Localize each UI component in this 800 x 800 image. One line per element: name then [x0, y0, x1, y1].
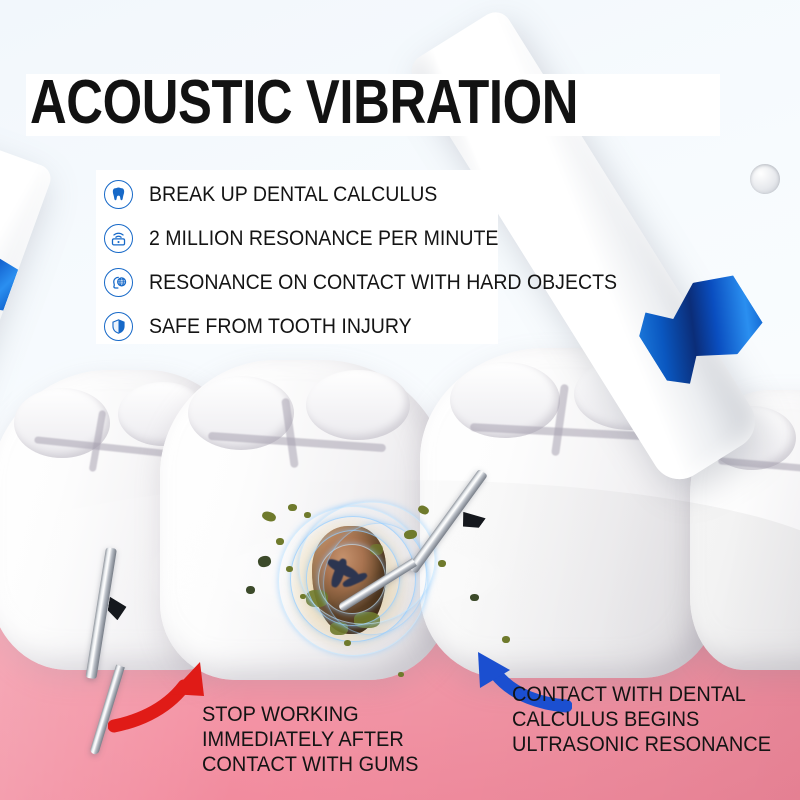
feature-item-3[interactable]: SAFE FROM TOOTH INJURY — [104, 312, 431, 341]
scaler-right-power-button[interactable] — [750, 164, 780, 194]
feature-item-0[interactable]: BREAK UP DENTAL CALCULUS — [104, 180, 459, 209]
product-feature-image: ACOUSTIC VIBRATION BREAK UP DENTAL CALCU… — [0, 0, 800, 800]
tooth-icon — [104, 180, 133, 209]
caption-right: CONTACT WITH DENTAL CALCULUS BEGINS ULTR… — [512, 682, 771, 757]
feature-label: RESONANCE ON CONTACT WITH HARD OBJECTS — [149, 272, 617, 293]
caption-left-line-2: CONTACT WITH GUMS — [202, 752, 418, 777]
feature-label: BREAK UP DENTAL CALCULUS — [149, 184, 437, 205]
caption-left-line-0: STOP WORKING — [202, 702, 418, 727]
feature-item-2[interactable]: RESONANCE ON CONTACT WITH HARD OBJECTS — [104, 268, 652, 297]
feature-label: SAFE FROM TOOTH INJURY — [149, 316, 412, 337]
page-title: ACOUSTIC VIBRATION — [30, 72, 578, 134]
wifi-signal-icon — [104, 224, 133, 253]
feature-label: 2 MILLION RESONANCE PER MINUTE — [149, 228, 498, 249]
caption-right-line-1: CALCULUS BEGINS — [512, 707, 771, 732]
caption-right-line-0: CONTACT WITH DENTAL — [512, 682, 771, 707]
caption-left-line-1: IMMEDIATELY AFTER — [202, 727, 418, 752]
caption-left: STOP WORKING IMMEDIATELY AFTER CONTACT W… — [202, 702, 418, 777]
scaler-left-tip-notch — [106, 597, 127, 622]
globe-head-icon — [104, 268, 133, 297]
scaler-left-handle — [0, 130, 54, 574]
ultrasonic-scaler-right[interactable] — [600, 80, 800, 620]
shield-icon — [104, 312, 133, 341]
caption-right-line-2: ULTRASONIC RESONANCE — [512, 732, 771, 757]
feature-item-1[interactable]: 2 MILLION RESONANCE PER MINUTE — [104, 224, 525, 253]
